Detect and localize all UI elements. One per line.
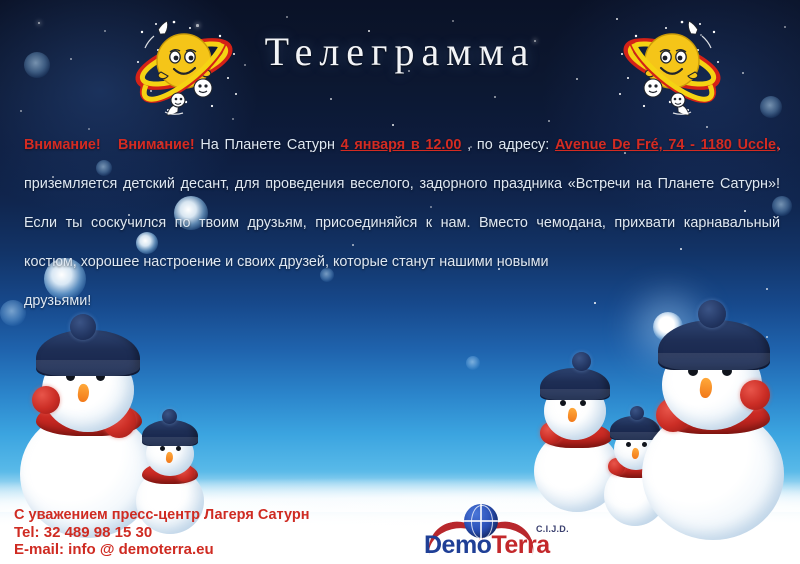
- footer-signature: С уважением пресс-центр Лагеря Сатурн: [14, 507, 310, 524]
- footer-email: E-mail: info @ demoterra.eu: [14, 541, 310, 558]
- attention-label-1: Внимание!: [24, 137, 101, 153]
- snowman-hat: [540, 368, 610, 400]
- snowman-large-right: [640, 330, 800, 540]
- snowman-earmuff-pompom: [740, 380, 770, 410]
- snowman-hat-pompom: [162, 409, 177, 424]
- snowman-eye: [580, 400, 586, 406]
- page-title: Телеграмма: [0, 28, 800, 75]
- footer-phone: Tel: 32 489 98 15 30: [14, 524, 310, 541]
- text-last-word: друзьями!: [24, 282, 780, 321]
- text-segment-3: приземляется детский десант, для проведе…: [24, 176, 780, 270]
- event-date-time: 4 января в 12.00: [341, 137, 462, 153]
- snowman-eye: [176, 446, 181, 451]
- attention-label-2: Внимание!: [118, 137, 195, 153]
- snowman-eye: [160, 446, 165, 451]
- logo-word-demo: Demo: [424, 531, 491, 559]
- logo-word-terra: Terra: [491, 531, 549, 559]
- winter-telegram-poster: Телеграмма: [0, 0, 800, 564]
- snowman-hat-pompom: [572, 352, 591, 371]
- text-segment-2: , по адресу:: [467, 137, 555, 153]
- poster-header: Телеграмма: [0, 0, 800, 120]
- snowman-earmuff-pompom: [32, 386, 60, 414]
- text-segment-1: На Планете Сатурн: [200, 137, 340, 153]
- logo-wordmark: DemoTerra: [424, 532, 550, 558]
- snowman-eye: [626, 442, 631, 447]
- demoterra-logo: C.I.J.D. DemoTerra: [424, 504, 594, 560]
- announcement-text: Внимание! Внимание! На Планете Сатурн 4 …: [24, 126, 780, 321]
- snowman-eye: [560, 400, 566, 406]
- contact-footer: С уважением пресс-центр Лагеря Сатурн Te…: [14, 507, 310, 558]
- event-address: Avenue De Fré, 74 - 1180 Uccle,: [555, 137, 780, 153]
